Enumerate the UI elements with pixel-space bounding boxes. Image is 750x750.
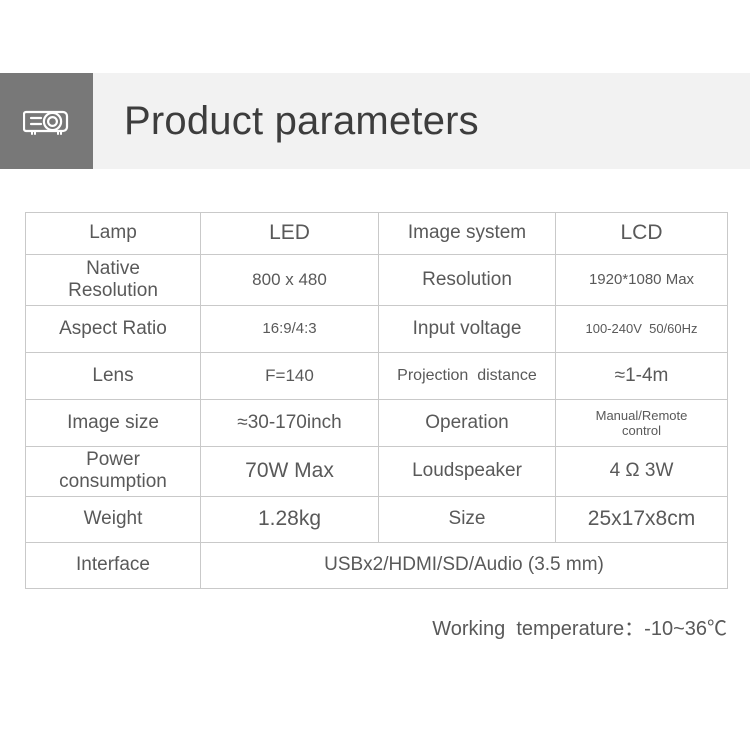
- table-row: Image size ≈30-170inch Operation Manual/…: [26, 400, 728, 447]
- spec-value: 1.28kg: [201, 496, 379, 542]
- spec-label: Resolution: [379, 255, 556, 306]
- spec-label: Size: [379, 496, 556, 542]
- spec-value: USBx2/HDMI/SD/Audio (3.5 mm): [201, 542, 728, 588]
- table-row: Lamp LED Image system LCD: [26, 213, 728, 255]
- spec-table: Lamp LED Image system LCD Native Resolut…: [25, 212, 728, 589]
- spec-label: Loudspeaker: [379, 447, 556, 497]
- table-row: Lens F=140 Projection distance ≈1-4m: [26, 353, 728, 400]
- header-icon-box: [0, 73, 93, 169]
- spec-value: ≈30-170inch: [201, 400, 379, 447]
- spec-label: Power consumption: [26, 447, 201, 497]
- spec-value: 1920*1080 Max: [556, 255, 728, 306]
- table-row-interface: Interface USBx2/HDMI/SD/Audio (3.5 mm): [26, 542, 728, 588]
- spec-value: 70W Max: [201, 447, 379, 497]
- spec-value: LCD: [556, 213, 728, 255]
- spec-value: 16:9/4:3: [201, 306, 379, 353]
- product-parameters-page: Product parameters Lamp LED Image system…: [0, 0, 750, 750]
- spec-label: Aspect Ratio: [26, 306, 201, 353]
- spec-label: Lamp: [26, 213, 201, 255]
- spec-label: Image system: [379, 213, 556, 255]
- projector-icon: [23, 104, 71, 138]
- spec-value: 100-240V 50/60Hz: [556, 306, 728, 353]
- spec-label: Weight: [26, 496, 201, 542]
- spec-value: 800 x 480: [201, 255, 379, 306]
- spec-label: Projection distance: [379, 353, 556, 400]
- spec-label: Operation: [379, 400, 556, 447]
- spec-value: 25x17x8cm: [556, 496, 728, 542]
- spec-value: Manual/Remote control: [556, 400, 728, 447]
- spec-label: Native Resolution: [26, 255, 201, 306]
- table-row: Aspect Ratio 16:9/4:3 Input voltage 100-…: [26, 306, 728, 353]
- spec-value: 4 Ω 3W: [556, 447, 728, 497]
- spec-label: Lens: [26, 353, 201, 400]
- header-banner: Product parameters: [0, 73, 750, 169]
- spec-value: ≈1-4m: [556, 353, 728, 400]
- spec-label: Input voltage: [379, 306, 556, 353]
- table-row: Power consumption 70W Max Loudspeaker 4 …: [26, 447, 728, 497]
- spec-value: LED: [201, 213, 379, 255]
- page-title: Product parameters: [93, 73, 750, 169]
- table-row: Native Resolution 800 x 480 Resolution 1…: [26, 255, 728, 306]
- spec-label: Interface: [26, 542, 201, 588]
- spec-value: F=140: [201, 353, 379, 400]
- spec-label: Image size: [26, 400, 201, 447]
- table-row: Weight 1.28kg Size 25x17x8cm: [26, 496, 728, 542]
- working-temperature-note: Working temperature：-10~36℃: [0, 612, 727, 641]
